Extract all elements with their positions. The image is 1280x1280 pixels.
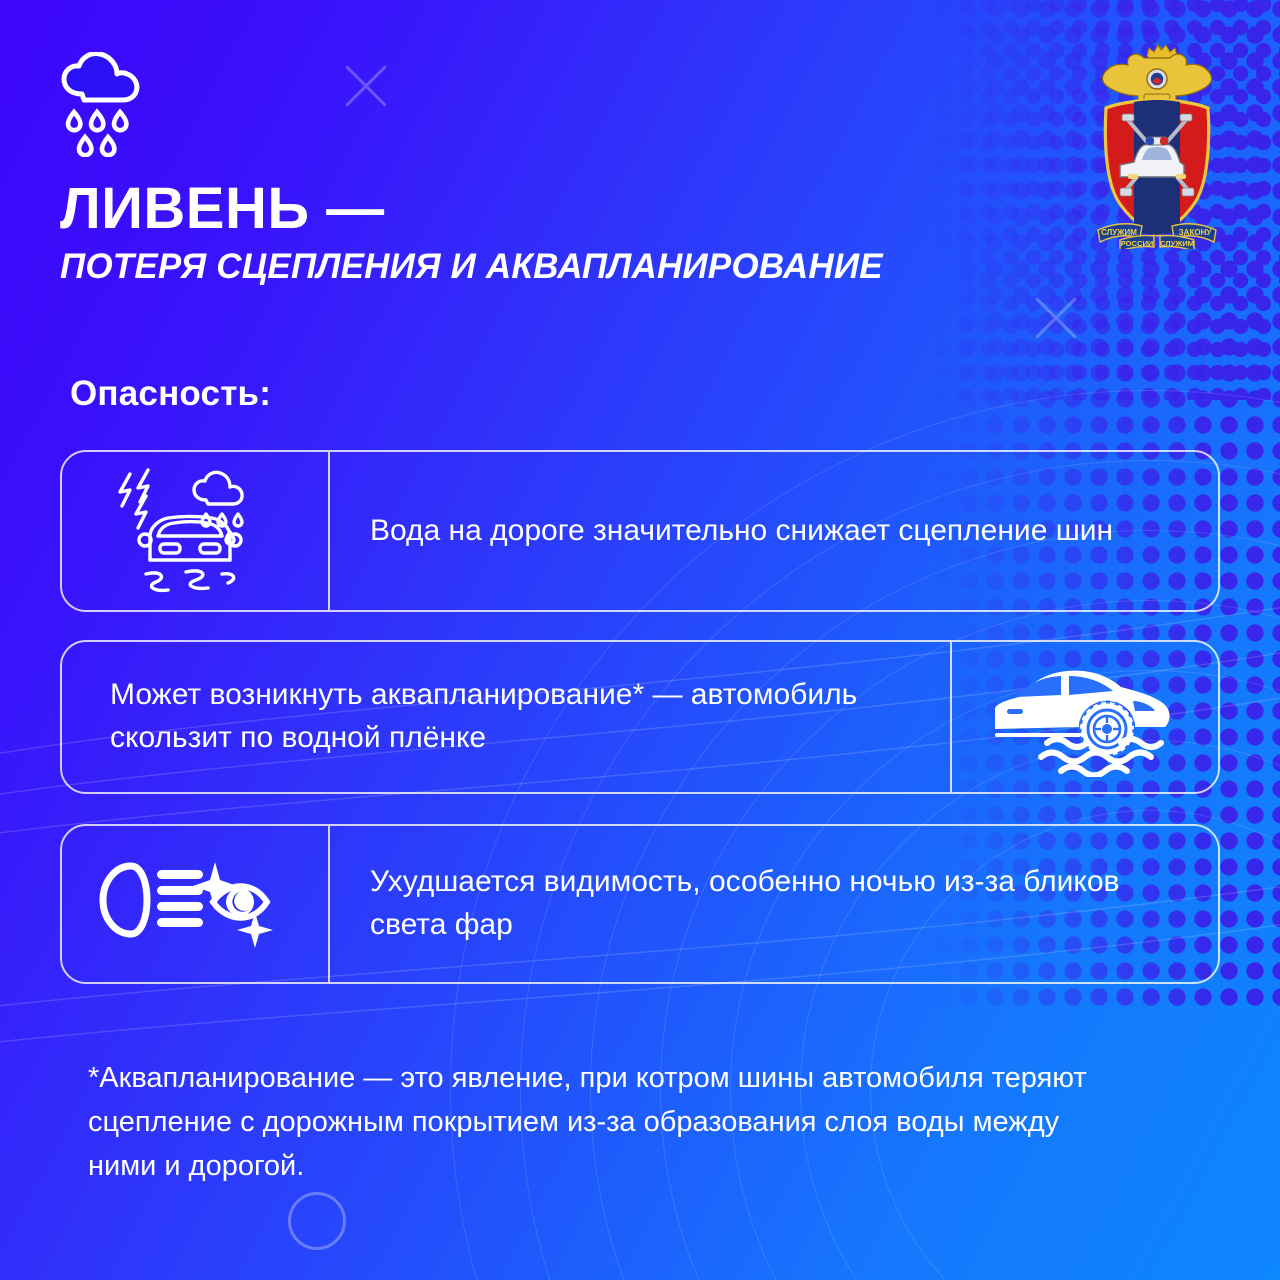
poster-canvas: ЛИВЕНЬ — ПОТЕРЯ СЦЕПЛЕНИЯ И АКВАПЛАНИРОВ… (0, 0, 1280, 1280)
car-rain-lightning-skid-icon (110, 466, 280, 596)
card-icon-slot (62, 826, 330, 982)
danger-card-2: Может возникнуть аквапланирование* — авт… (60, 640, 1220, 794)
card-text: Ухудшается видимость, особенно ночью из-… (330, 826, 1218, 982)
page-subtitle: ПОТЕРЯ СЦЕПЛЕНИЯ И АКВАПЛАНИРОВАНИЕ (60, 247, 1060, 287)
card-text: Может возникнуть аквапланирование* — авт… (62, 642, 950, 792)
x-mark-decoration (1028, 290, 1084, 346)
danger-card-1: Вода на дороге значительно снижает сцепл… (60, 450, 1220, 612)
page-title: ЛИВЕНЬ — (60, 179, 1060, 238)
footnote-text: *Аквапланирование — это явление, при кот… (88, 1056, 1098, 1188)
headlight-glare-eye-icon (95, 854, 295, 954)
poster-header: ЛИВЕНЬ — ПОТЕРЯ СЦЕПЛЕНИЯ И АКВАПЛАНИРОВ… (60, 52, 1060, 287)
emblem-motto-bottom-right: СЛУЖИМ (1160, 239, 1194, 248)
rain-cloud-icon (60, 52, 152, 157)
gibdd-emblem: СЛУЖИМ ЗАКОНУ РОССИИ СЛУЖИМ (1082, 34, 1232, 249)
circle-outline-decoration (288, 1192, 346, 1250)
section-heading: Опасность: (70, 374, 271, 414)
emblem-motto-top-right: ЗАКОНУ (1179, 228, 1213, 237)
car-aquaplaning-water-icon (985, 657, 1185, 777)
card-icon-slot (62, 452, 330, 610)
emblem-motto-top-left: СЛУЖИМ (1101, 228, 1137, 237)
danger-card-3: Ухудшается видимость, особенно ночью из-… (60, 824, 1220, 984)
card-icon-slot (950, 642, 1218, 792)
card-text: Вода на дороге значительно снижает сцепл… (330, 452, 1218, 610)
emblem-motto-bottom-left: РОССИИ (1121, 239, 1154, 248)
